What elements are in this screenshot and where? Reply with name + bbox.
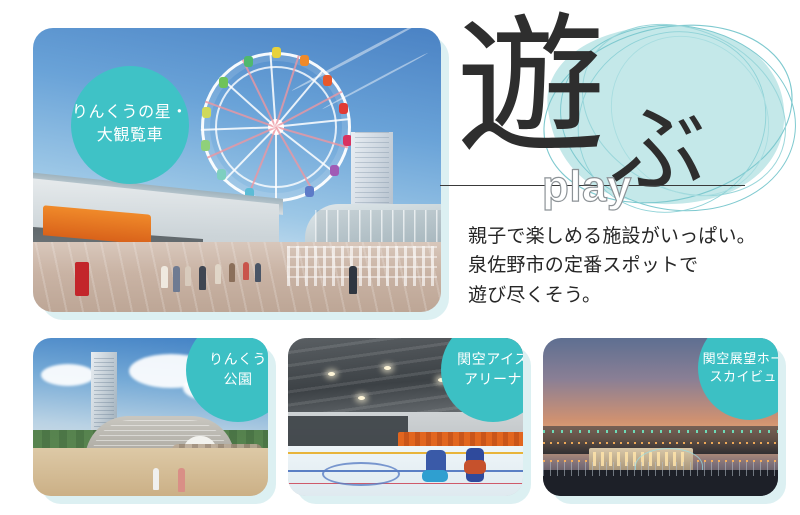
- thumb-badge-line-1: 関空展望ホール: [703, 350, 778, 368]
- headline-block: 遊 ぶ play 親子で楽しめる施設がいっぱい。 泉佐野市の定番スポットで 遊び…: [440, 14, 800, 324]
- ice-face-off-circle: [322, 462, 400, 486]
- thumbnail-card-ice-arena[interactable]: 関空アイス アリーナ: [288, 338, 523, 496]
- thumb-badge-line-2: スカイビュー: [709, 368, 778, 386]
- outdoor-chairs: [287, 246, 437, 286]
- hero-photo-card[interactable]: りんくうの星・ 大観覧車: [33, 28, 441, 312]
- thumb-badge-line-1: りんくう: [209, 350, 267, 370]
- description-line-1: 親子で楽しめる施設がいっぱい。: [468, 222, 798, 251]
- ice-line-yellow: [288, 452, 523, 454]
- hero-badge[interactable]: りんくうの星・ 大観覧車: [71, 66, 189, 184]
- ferris-wheel-graphic: [201, 52, 351, 202]
- red-signboard: [75, 262, 89, 296]
- headline-romaji: play: [542, 162, 632, 212]
- thumb-photo-skyview: 関空展望ホール スカイビュー: [543, 338, 778, 496]
- thumb-photo-ice-arena: 関空アイス アリーナ: [288, 338, 523, 496]
- thumb-badge-line-2: 公園: [223, 370, 252, 390]
- page-root: りんくうの星・ 大観覧車 遊 ぶ play 親子で楽しめる施設がいっぱい。 泉佐…: [0, 0, 800, 515]
- observation-railing: [543, 462, 778, 476]
- thumb-badge-line-1: 関空アイス: [457, 350, 523, 370]
- headline-kanji-main: 遊: [456, 12, 603, 162]
- hero-photo-ferris-wheel: りんくうの星・ 大観覧車: [33, 28, 441, 312]
- runway-lights-amber: [543, 442, 778, 444]
- description-line-2: 泉佐野市の定番スポットで: [468, 251, 798, 280]
- description-text: 親子で楽しめる施設がいっぱい。 泉佐野市の定番スポットで 遊び尽くそう。: [468, 222, 798, 310]
- beach-sand: [33, 448, 268, 496]
- hero-badge-line-2: 大観覧車: [97, 125, 164, 148]
- description-line-3: 遊び尽くそう。: [468, 281, 798, 310]
- runway-lights-green: [543, 430, 778, 433]
- hero-badge-line-1: りんくうの星・: [72, 102, 188, 125]
- thumbnail-card-rinku-park[interactable]: りんくう 公園: [33, 338, 268, 496]
- thumb-badge-line-2: アリーナ: [464, 370, 522, 390]
- mascot-character: [464, 460, 486, 474]
- mascot-character: [422, 470, 448, 482]
- ice-line-red: [288, 483, 523, 485]
- thumbnail-card-skyview[interactable]: 関空展望ホール スカイビュー: [543, 338, 778, 496]
- thumb-photo-rinku-park: りんくう 公園: [33, 338, 268, 496]
